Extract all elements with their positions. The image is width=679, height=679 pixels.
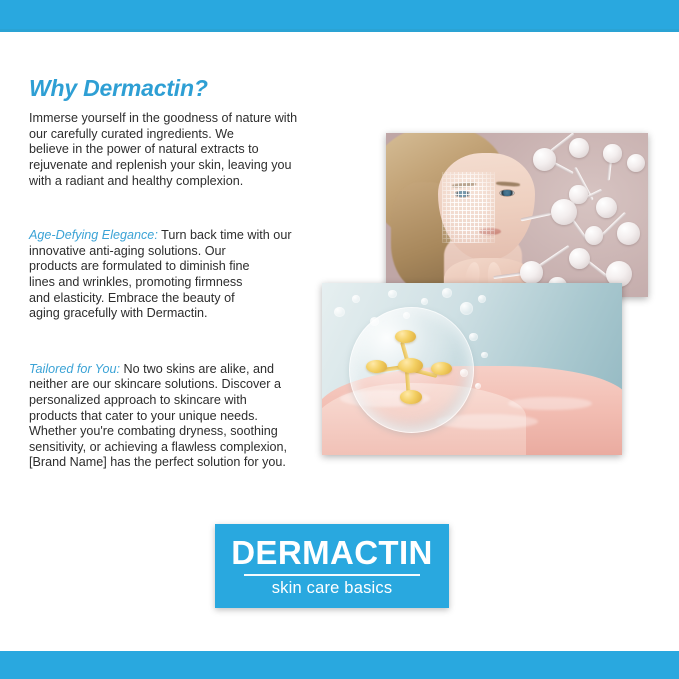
bubble [481,352,488,359]
bottom-accent-bar [0,651,679,679]
paragraph-tailored: Tailored for You: No two skins are alike… [29,362,329,471]
brand-logo: DERMACTIN skin care basics [215,524,449,608]
bubble [475,383,481,389]
infographic-page: Why Dermactin? Immerse yourself in the g… [0,0,679,679]
paragraph-spacer [29,322,329,362]
bubble [421,298,428,305]
logo-divider [244,574,420,576]
molecule-model-graphic [386,133,648,297]
paragraph-tailored-lead: Tailored for You: [29,362,120,376]
top-accent-bar [0,0,679,32]
paragraph-tailored-body: No two skins are alike, and neither are … [29,362,287,470]
bubble [460,302,473,315]
bubble [352,295,360,303]
cream-fold [508,397,592,411]
paragraph-spacer [29,189,329,228]
bubble [370,317,379,326]
page-title: Why Dermactin? [29,76,329,101]
paragraph-age-defying-lead: Age-Defying Elegance: [29,228,158,242]
paragraph-intro-body: Immerse yourself in the goodness of natu… [29,111,297,187]
logo-wordmark: DERMACTIN [231,536,433,569]
bubble [460,369,468,377]
woman-face-molecule-photo [386,133,648,297]
paragraph-age-defying: Age-Defying Elegance: Turn back time wit… [29,228,329,322]
text-column: Why Dermactin? Immerse yourself in the g… [29,76,329,471]
bubble [442,288,452,298]
logo-tagline: skin care basics [272,580,393,599]
golden-molecule-graphic [364,324,454,413]
paragraph-intro: Immerse yourself in the goodness of natu… [29,111,329,189]
serum-bubble-photo [322,283,622,455]
